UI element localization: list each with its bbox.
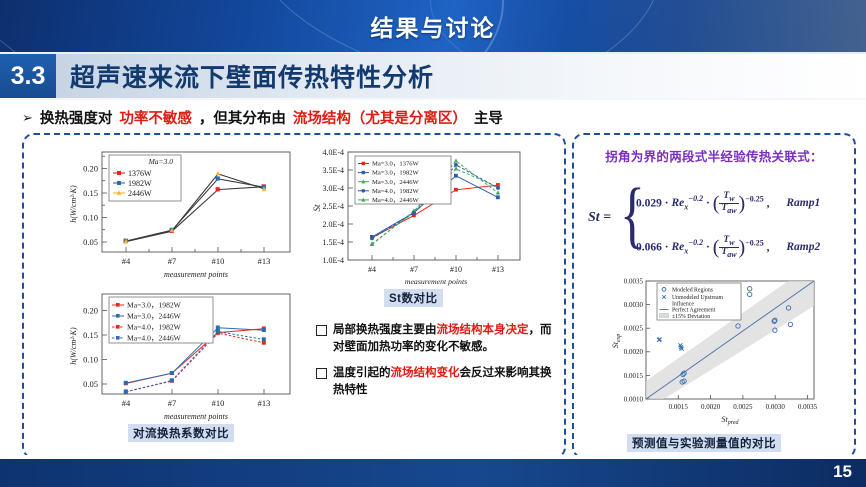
chart3-ylabel: St xyxy=(312,204,322,212)
chart3-legend: Ma=3.0，1376W Ma=3.0，1982W Ma=3.0，2446W M… xyxy=(355,156,451,204)
chart3-legend-4: Ma=4.0，2446W xyxy=(372,197,420,204)
chart3-xtick-2: #10 xyxy=(450,265,462,274)
f2-num-sub: w xyxy=(729,238,734,247)
square-bullet-icon xyxy=(316,368,327,379)
f2-re-sup: −0.2 xyxy=(688,239,703,248)
chart1-ytick-2: 0.15 xyxy=(83,188,98,198)
chart2-ytick-0: 0.05 xyxy=(83,379,98,389)
chart4-legend-0: Modeled Regions xyxy=(672,287,714,293)
chart1-ylabel: h(W/cm²·K) xyxy=(69,185,78,223)
caption-h: 对流换热系数对比 xyxy=(128,424,234,442)
formula-lhs: St = xyxy=(588,210,611,226)
f1-re-sub: x xyxy=(684,203,688,212)
chart4-legend-1: Unmodeled Upstream xyxy=(672,295,724,301)
mb1-r1: 流场结构本身决定 xyxy=(437,324,529,336)
f2-ramp: Ramp2 xyxy=(786,241,820,253)
chart3-ytick-0: 1.0E-4 xyxy=(322,256,344,265)
chart3-ytick-5: 3.5E-4 xyxy=(322,166,344,175)
lead-part-2: 功率不敏感 xyxy=(119,107,192,128)
chart2-legend-1: Ma=3.0，2446W xyxy=(127,312,182,321)
chart4-ytick-5: 0.0035 xyxy=(624,277,644,285)
f2-fraction: TwTaw xyxy=(719,236,738,260)
chart1-xtick-3: #13 xyxy=(258,256,271,266)
chart2-ytick-1: 0.10 xyxy=(83,355,98,365)
middle-bullet-1: 局部换热强度主要由流场结构本身决定，而对壁面加热功率的变化不敏感。 xyxy=(316,322,562,357)
chart2-xtick-2: #10 xyxy=(212,398,225,408)
f1-exp: −0.25 xyxy=(745,195,764,204)
chart4-unmodeled-points xyxy=(657,337,684,350)
f1-paren-open: ( xyxy=(713,192,720,214)
mb1-t1: 局部换热强度主要由 xyxy=(333,324,437,336)
chart2-legend: Ma=3.0，1982W Ma=3.0，2446W Ma=4.0，1982W M… xyxy=(109,297,213,343)
section-header: 3.3 超声速来流下壁面传热特性分析 xyxy=(0,52,866,100)
slide: 结果与讨论 3.3 超声速来流下壁面传热特性分析 ➢ 换热强度对功率不敏感，但其… xyxy=(0,0,866,487)
chart1-xtick-0: #4 xyxy=(122,256,131,266)
chart3-ytick-3: 2.5E-4 xyxy=(322,202,344,211)
chart3-xtick-3: #13 xyxy=(492,265,504,274)
lead-bullet: ➢ 换热强度对功率不敏感，但其分布由流场结构（尤其是分离区）主导 xyxy=(22,104,852,130)
formula-block: St = { 0.029 · Rex−0.2 · (TwTaw)−0.25 , … xyxy=(586,170,848,268)
chart4-ytick-2: 0.0020 xyxy=(624,348,644,356)
mb2-t1: 温度引起的 xyxy=(333,367,391,379)
chart3-legend-2: Ma=3.0，2446W xyxy=(372,179,420,186)
chart2-xtick-3: #13 xyxy=(258,398,271,408)
middle-bullets: 局部换热强度主要由流场结构本身决定，而对壁面加热功率的变化不敏感。 温度引起的流… xyxy=(316,322,562,407)
f2-dot: · xyxy=(706,241,710,253)
chart4-xtick-4: 0.0035 xyxy=(798,403,818,411)
top-banner: 结果与讨论 xyxy=(0,0,866,52)
chart1-xtick-2: #10 xyxy=(212,256,225,266)
chart1-ytick-0: 0.05 xyxy=(83,237,98,247)
lead-part-3: ，但其分布由 xyxy=(199,107,286,128)
chart4-ytick-0: 0.0010 xyxy=(624,395,644,403)
chart-pred-vs-exp: 0.0010 0.0015 0.0020 0.0025 0.0030 0.003… xyxy=(600,275,845,433)
chart3-ytick-1: 1.5E-4 xyxy=(322,238,344,247)
caption-st: St数对比 xyxy=(384,289,443,307)
chart2-legend-3: Ma=4.0，2446W xyxy=(127,334,182,343)
chart2-xlabel: measurement points xyxy=(164,412,228,421)
f1-den-sub: aw xyxy=(727,206,736,215)
chart1-legend-title: Ma=3.0 xyxy=(148,157,174,166)
f1-fraction: TwTaw xyxy=(719,192,738,216)
f1-coef: 0.029 · xyxy=(636,197,669,209)
f2-den-sub: aw xyxy=(727,250,736,259)
chart1-xtick-1: #7 xyxy=(168,256,177,266)
f1-re-sup: −0.2 xyxy=(688,195,703,204)
mb2-r1: 流场结构变化 xyxy=(391,367,460,379)
f2-paren-open: ( xyxy=(713,236,720,258)
lead-part-4: 流场结构（尤其是分离区） xyxy=(293,107,467,128)
chart4-legend-3: ±15% Deviation xyxy=(672,314,710,320)
chart1-legend-2: 2446W xyxy=(128,189,152,198)
chart-st-comparison: 1.0E-4 1.5E-4 2.0E-4 2.5E-4 3.0E-4 3.5E-… xyxy=(300,146,532,296)
square-bullet-icon xyxy=(316,325,327,336)
f1-ramp: Ramp1 xyxy=(786,197,820,209)
chart2-xtick-1: #7 xyxy=(168,398,177,408)
lead-part-5: 主导 xyxy=(474,107,503,128)
formula-row-2: 0.066 · Rex−0.2 · (TwTaw)−0.25 , Ramp2 xyxy=(636,236,820,260)
f2-re-sub: x xyxy=(684,247,688,256)
f1-num-sub: w xyxy=(729,194,734,203)
chart2-ylabel: h(W/cm²·K) xyxy=(69,327,78,365)
f2-coef: 0.066 · xyxy=(636,241,669,253)
chart2-xtick-0: #4 xyxy=(122,398,131,408)
section-title: 超声速来流下壁面传热特性分析 xyxy=(70,54,434,98)
chart2-ytick-3: 0.20 xyxy=(83,306,98,316)
banner-title: 结果与讨论 xyxy=(0,0,866,52)
chart2-legend-0: Ma=3.0，1982W xyxy=(127,301,182,310)
chart4-ytick-1: 0.0015 xyxy=(624,372,644,380)
chart2-ytick-2: 0.15 xyxy=(83,330,98,340)
chart4-xlabel: Stpred xyxy=(721,415,739,426)
chart4-xtick-0: 0.0015 xyxy=(669,403,689,411)
chart3-xtick-1: #7 xyxy=(410,265,418,274)
chart3-ytick-2: 2.0E-4 xyxy=(322,220,344,229)
chart4-ytick-4: 0.0030 xyxy=(624,301,644,309)
f2-exp: −0.25 xyxy=(745,239,764,248)
chart4-xtick-2: 0.0025 xyxy=(733,403,753,411)
chart4-xtick-1: 0.0020 xyxy=(701,403,721,411)
chart3-legend-3: Ma=4.0，1982W xyxy=(372,188,420,195)
middle-bullet-2-text: 温度引起的流场结构变化会反过来影响其换热特性 xyxy=(333,365,562,400)
f2-re: Re xyxy=(671,241,684,253)
section-number: 3.3 xyxy=(0,54,56,98)
middle-bullet-2: 温度引起的流场结构变化会反过来影响其换热特性 xyxy=(316,365,562,400)
right-panel-title: 拐角为界的两段式半经验传热关联式： xyxy=(586,146,842,165)
chart-h-ma30: 0.05 0.10 0.15 0.20 #4 #7 #10 #13 measur… xyxy=(62,146,302,281)
chart2-legend-2: Ma=4.0，1982W xyxy=(127,323,182,332)
f1-comma: , xyxy=(767,197,770,209)
page-number: 15 xyxy=(833,462,852,482)
f1-re: Re xyxy=(671,197,684,209)
chart4-xtick-3: 0.0030 xyxy=(766,403,786,411)
f1-dot: · xyxy=(706,197,710,209)
lead-part-1: 换热强度对 xyxy=(40,107,113,128)
chart1-legend: Ma=3.0 1376W 1982W 2446W xyxy=(109,155,181,201)
chart1-legend-0: 1376W xyxy=(128,169,152,178)
chart1-ytick-1: 0.10 xyxy=(83,213,98,223)
chart3-legend-1: Ma=3.0，1982W xyxy=(372,170,420,177)
formula-row-1: 0.029 · Rex−0.2 · (TwTaw)−0.25 , Ramp1 xyxy=(636,192,820,216)
chart4-ylabel: Stexp xyxy=(611,334,622,349)
chart4-legend: Modeled Regions Unmodeled Upstream Influ… xyxy=(657,283,741,320)
middle-bullet-1-text: 局部换热强度主要由流场结构本身决定，而对壁面加热功率的变化不敏感。 xyxy=(333,322,562,357)
caption-scatter: 预测值与实验测量值的对比 xyxy=(627,434,781,452)
chart3-xlabel: measurement points xyxy=(405,277,467,286)
chart-h-comparison: 0.05 0.10 0.15 0.20 #4 #7 #10 #13 measur… xyxy=(62,288,302,428)
chart4-legend-1b: Influence xyxy=(672,300,694,307)
chart3-legend-0: Ma=3.0，1376W xyxy=(372,161,420,168)
arrow-icon: ➢ xyxy=(22,111,33,124)
chart4-legend-2: Perfect Agreement xyxy=(672,307,716,314)
chart1-legend-1: 1982W xyxy=(128,179,152,188)
chart4-ytick-3: 0.0025 xyxy=(624,325,644,333)
chart1-ytick-3: 0.20 xyxy=(83,164,98,174)
bottom-bar xyxy=(0,459,866,487)
chart1-xlabel: measurement points xyxy=(164,270,228,279)
chart3-ytick-4: 3.0E-4 xyxy=(322,184,344,193)
chart3-xtick-0: #4 xyxy=(368,265,376,274)
f2-comma: , xyxy=(767,241,770,253)
chart3-ytick-6: 4.0E-4 xyxy=(322,148,344,157)
